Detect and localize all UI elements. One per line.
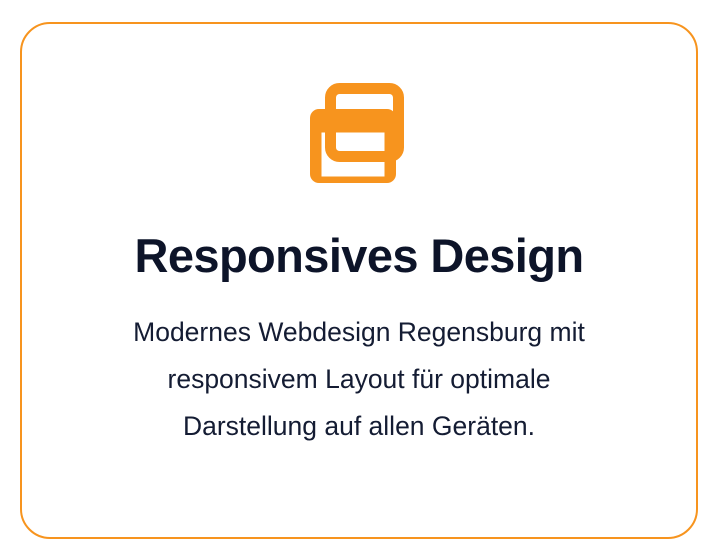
card-description-line: Modernes Webdesign Regensburg mit: [59, 309, 659, 356]
card-description: Modernes Webdesign Regensburg mit respon…: [59, 309, 659, 450]
card-description-line: responsivem Layout für optimale: [59, 356, 659, 403]
page-root: Responsives Design Modernes Webdesign Re…: [0, 0, 722, 560]
card-description-line: Darstellung auf allen Geräten.: [59, 403, 659, 450]
card-title: Responsives Design: [135, 230, 584, 283]
duplicate-windows-icon: [301, 78, 417, 194]
feature-card-responsives-design[interactable]: Responsives Design Modernes Webdesign Re…: [20, 22, 698, 539]
